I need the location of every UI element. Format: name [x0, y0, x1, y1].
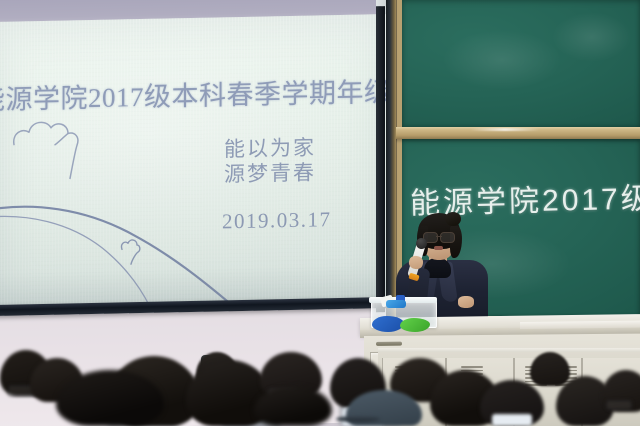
screen-surface: 能源学院2017级本科春季学期年级大会 能以为家 源梦青春 2019.03.17: [0, 14, 390, 307]
screen-right-edge: [376, 6, 385, 312]
blue-tape-roll: [386, 300, 406, 308]
chalk-smudge: [442, 30, 562, 90]
slide-subtitle-line-2: 源梦青春: [224, 159, 374, 187]
audience-head-foreground: [254, 386, 332, 426]
speaker-mouth: [434, 246, 443, 250]
glasses-bridge: [436, 236, 442, 237]
slide-date: 2019.03.17: [222, 206, 382, 234]
classroom-photo: 能源学院2017级本科春季学期年级大会 能以为家 源梦青春 2019.03.17…: [0, 0, 640, 426]
blackboard-left-edge: [386, 0, 396, 330]
cap-brim: [336, 416, 380, 422]
slide-title: 能源学院2017级本科春季学期年级大会: [0, 70, 373, 117]
shirt-collar: [492, 414, 532, 426]
speaker-hand-on-desk: [458, 296, 474, 308]
audience-glasses-icon: [606, 400, 632, 410]
slide-subtitle: 能以为家 源梦青春: [224, 134, 374, 187]
chalk-smudge: [552, 12, 632, 62]
desk-right-extension: [520, 321, 640, 329]
hair-bun: [445, 212, 461, 226]
audience-head: [530, 352, 570, 386]
slide-subtitle-line-1: 能以为家: [224, 134, 374, 162]
projection-screen: 能源学院2017级本科春季学期年级大会 能以为家 源梦青春 2019.03.17: [0, 6, 390, 314]
rail-highlight: [470, 128, 540, 131]
blackboard-upper-panel: [402, 0, 640, 128]
audience-rows: [0, 330, 640, 426]
